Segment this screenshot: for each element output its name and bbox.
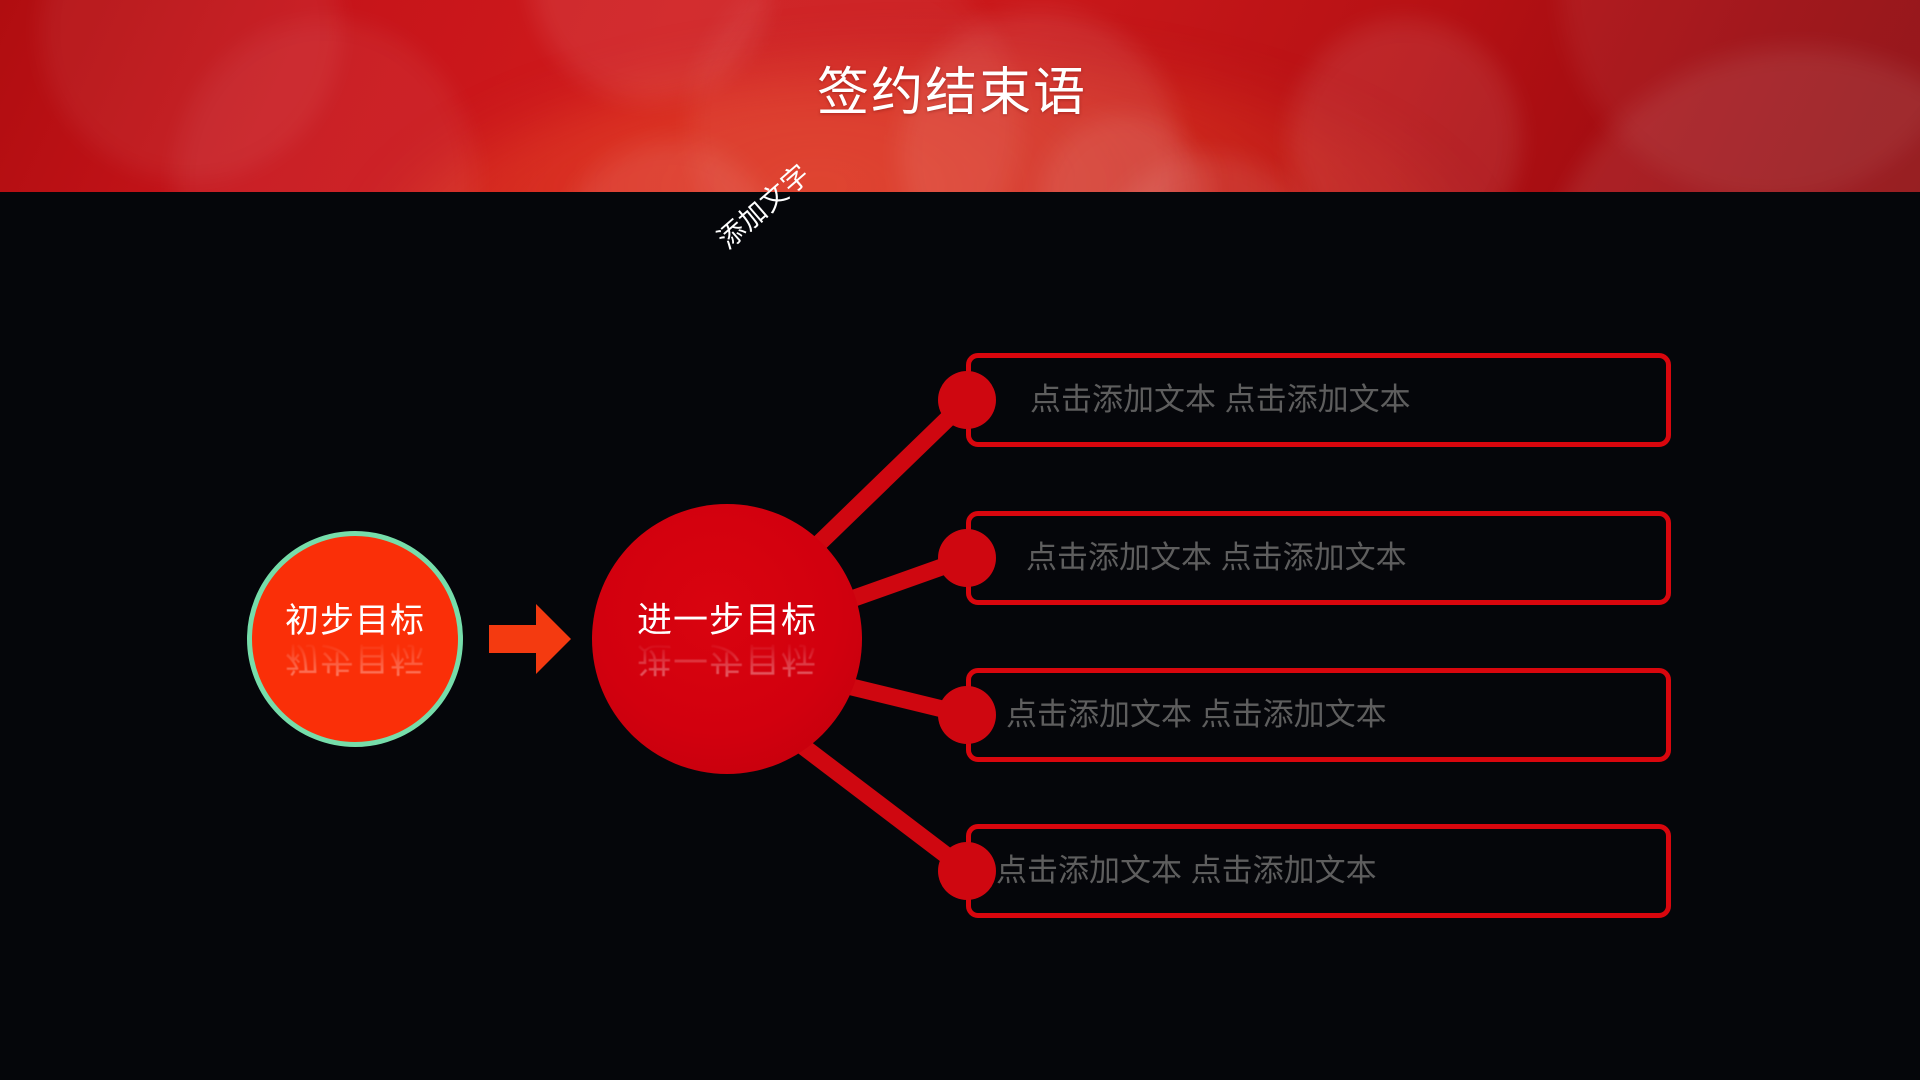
text-box-item[interactable]: 点击添加文本 点击添加文本: [966, 824, 1671, 918]
hub-node-circle[interactable]: 进一步目标 进一步目标: [592, 504, 862, 774]
hub-node-label-reflection: 进一步目标: [637, 638, 817, 678]
header-banner: 签约结束语: [0, 0, 1920, 192]
text-box-label: 点击添加文本 点击添加文本: [1030, 380, 1411, 420]
connector-dot[interactable]: [938, 686, 996, 744]
start-node-circle[interactable]: 初步目标 初步目标: [247, 531, 463, 747]
text-box-label: 点击添加文本 点击添加文本: [1006, 695, 1387, 735]
start-node-label-reflection: 初步目标: [285, 638, 425, 678]
arrow-right-icon: [487, 596, 573, 682]
start-node-label: 初步目标: [285, 601, 425, 641]
text-box-item[interactable]: 点击添加文本 点击添加文本: [966, 668, 1671, 762]
page-title: 签约结束语: [0, 60, 1920, 126]
connector-dot[interactable]: [938, 529, 996, 587]
text-box-label: 点击添加文本 点击添加文本: [1026, 538, 1407, 578]
hub-node-label-wrap: 进一步目标 进一步目标: [637, 601, 817, 678]
connector-dot[interactable]: [938, 371, 996, 429]
text-box-item[interactable]: 点击添加文本 点击添加文本: [966, 353, 1671, 447]
text-box-label: 点击添加文本 点击添加文本: [996, 851, 1377, 891]
page-title-text: 签约结束语: [817, 64, 1087, 122]
start-node-label-wrap: 初步目标 初步目标: [285, 601, 425, 678]
hub-node-label: 进一步目标: [637, 601, 817, 641]
connector-dot[interactable]: [938, 842, 996, 900]
slide-canvas: 签约结束语 添加文字 点击添加文本 点击添加文本 点击添加文本 点击添加文本 点…: [0, 0, 1920, 1080]
text-box-item[interactable]: 点击添加文本 点击添加文本: [966, 511, 1671, 605]
